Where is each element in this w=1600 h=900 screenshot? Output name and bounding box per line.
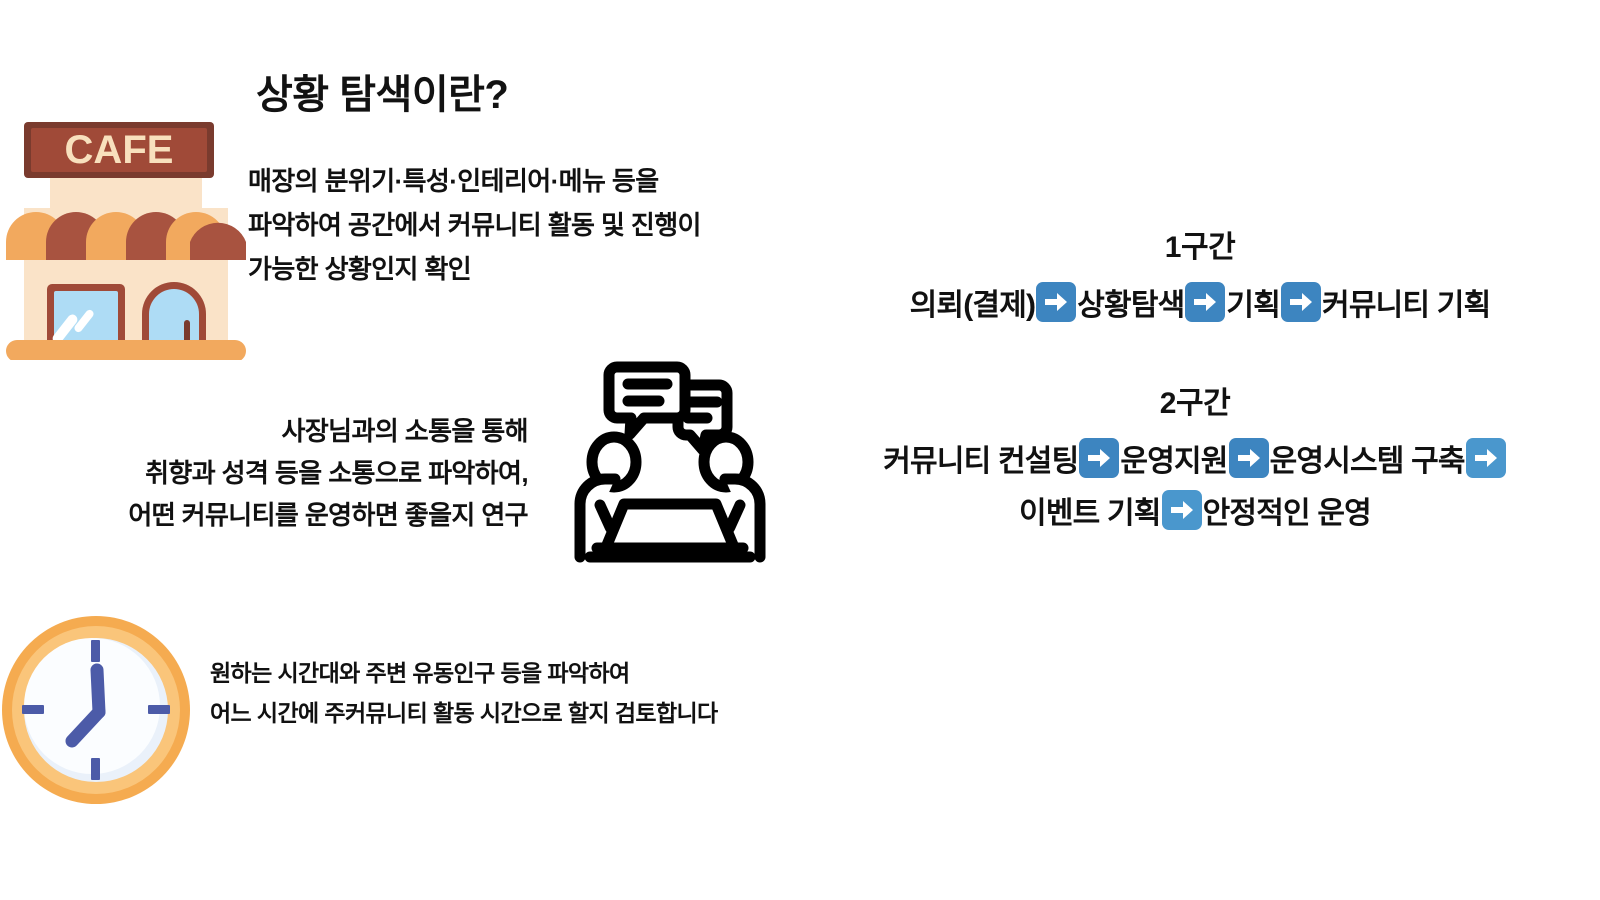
flow-step-커뮤니티컨설팅: 커뮤니티 컨설팅 — [883, 436, 1078, 480]
time-analysis-text: 원하는 시간대와 주변 유동인구 등을 파악하여 어느 시간에 주커뮤니티 활동… — [210, 662, 718, 742]
wall-clock-illustration — [0, 612, 196, 808]
arrow-right-icon — [1185, 282, 1225, 322]
flow-step-이벤트기획: 이벤트 기획 — [1019, 488, 1161, 532]
slide-canvas: CAFE — [0, 0, 1600, 900]
arrow-right-icon — [1162, 490, 1202, 530]
arrow-right-icon — [1466, 438, 1506, 478]
cafe-base-step — [6, 340, 246, 360]
owner-line-1: 사장님과의 소통을 통해 — [128, 418, 528, 444]
flow-2-row-2: 이벤트 기획 안정적인 운영 — [790, 488, 1600, 532]
store-line-1: 매장의 분위기·특성·인테리어·메뉴 등을 — [248, 168, 701, 194]
owner-communication-text: 사장님과의 소통을 통해 취향과 성격 등을 소통으로 파악하여, 어떤 커뮤니… — [128, 418, 528, 544]
flow-step-상황탐색: 상황탐색 — [1077, 280, 1184, 324]
flow-step-기획: 기획 — [1226, 280, 1280, 324]
arrow-right-icon — [1079, 438, 1119, 478]
flow-1-title: 1구간 — [800, 222, 1600, 266]
store-line-2: 파악하여 공간에서 커뮤니티 활동 및 진행이 — [248, 212, 701, 238]
arrow-right-icon — [1036, 282, 1076, 322]
cafe-storefront-illustration: CAFE — [2, 112, 250, 360]
flow-section-1: 1구간 의뢰(결제) 상황탐색 기획 커뮤니티 기획 — [800, 222, 1600, 332]
owner-line-2: 취향과 성격 등을 소통으로 파악하여, — [128, 460, 528, 486]
flow-2-title: 2구간 — [790, 378, 1600, 422]
flow-2-row-1: 커뮤니티 컨설팅 운영지원 운영시스템 구축 — [790, 436, 1600, 480]
time-line-2: 어느 시간에 주커뮤니티 활동 시간으로 할지 검토합니다 — [210, 702, 718, 725]
meeting-table — [590, 504, 750, 557]
flow-step-안정적인운영: 안정적인 운영 — [1203, 488, 1371, 532]
flow-step-운영지원: 운영지원 — [1120, 436, 1227, 480]
flow-step-의뢰결제: 의뢰(결제) — [910, 280, 1036, 324]
time-line-1: 원하는 시간대와 주변 유동인구 등을 파악하여 — [210, 662, 718, 685]
store-line-3: 가능한 상황인지 확인 — [248, 256, 701, 282]
flow-step-커뮤니티기획: 커뮤니티 기획 — [1322, 280, 1490, 324]
flow-step-운영시스템구축: 운영시스템 구축 — [1270, 436, 1465, 480]
cafe-sign-text: CAFE — [65, 128, 174, 172]
cafe-awning — [6, 212, 246, 262]
two-people-conversation-icon — [560, 352, 780, 574]
flow-1-row-1: 의뢰(결제) 상황탐색 기획 커뮤니티 기획 — [800, 280, 1600, 324]
owner-line-3: 어떤 커뮤니티를 운영하면 좋을지 연구 — [128, 502, 528, 528]
page-title: 상황 탐색이란? — [256, 62, 508, 120]
arrow-right-icon — [1229, 438, 1269, 478]
flow-section-2: 2구간 커뮤니티 컨설팅 운영지원 운영시스템 구축 이벤트 기획 안정적인 운… — [790, 378, 1600, 540]
arrow-right-icon — [1281, 282, 1321, 322]
store-description-text: 매장의 분위기·특성·인테리어·메뉴 등을 파악하여 공간에서 커뮤니티 활동 … — [248, 168, 701, 300]
